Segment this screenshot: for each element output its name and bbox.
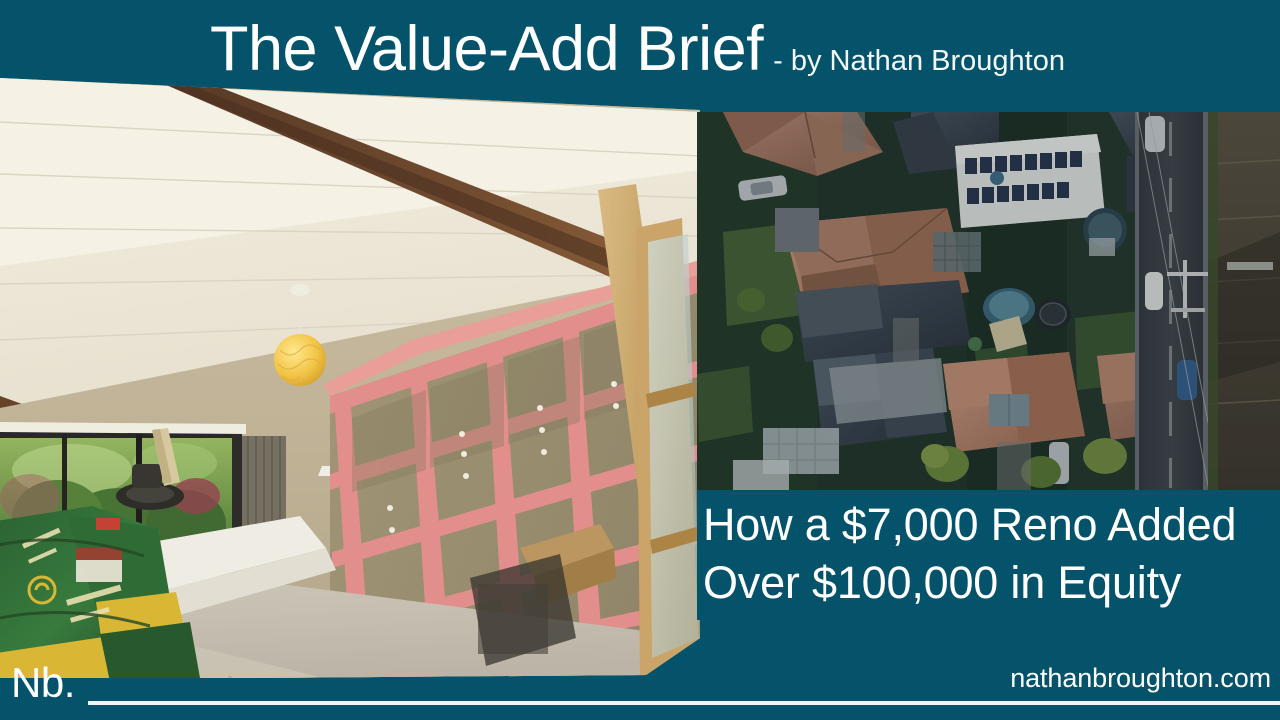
slide-footer: Nb. nathanbroughton.com [0, 658, 1280, 720]
title-row: The Value-Add Brief- by Nathan Broughton [0, 14, 1275, 96]
headline-caption: How a $7,000 Reno Added Over $100,000 in… [697, 490, 1280, 620]
presentation-slide: The Value-Add Brief- by Nathan Broughton… [0, 0, 1280, 720]
interior-renovation-photo [0, 78, 700, 678]
author-byline: - by Nathan Broughton [773, 26, 1065, 96]
caption-line-1: How a $7,000 Reno Added [703, 496, 1280, 554]
website-url[interactable]: nathanbroughton.com [1010, 660, 1271, 696]
footer-divider [88, 701, 1280, 705]
caption-line-2: Over $100,000 in Equity [703, 554, 1280, 612]
brand-logo: Nb. [11, 658, 75, 708]
page-title: The Value-Add Brief [210, 14, 763, 84]
aerial-suburb-photo [697, 112, 1280, 490]
